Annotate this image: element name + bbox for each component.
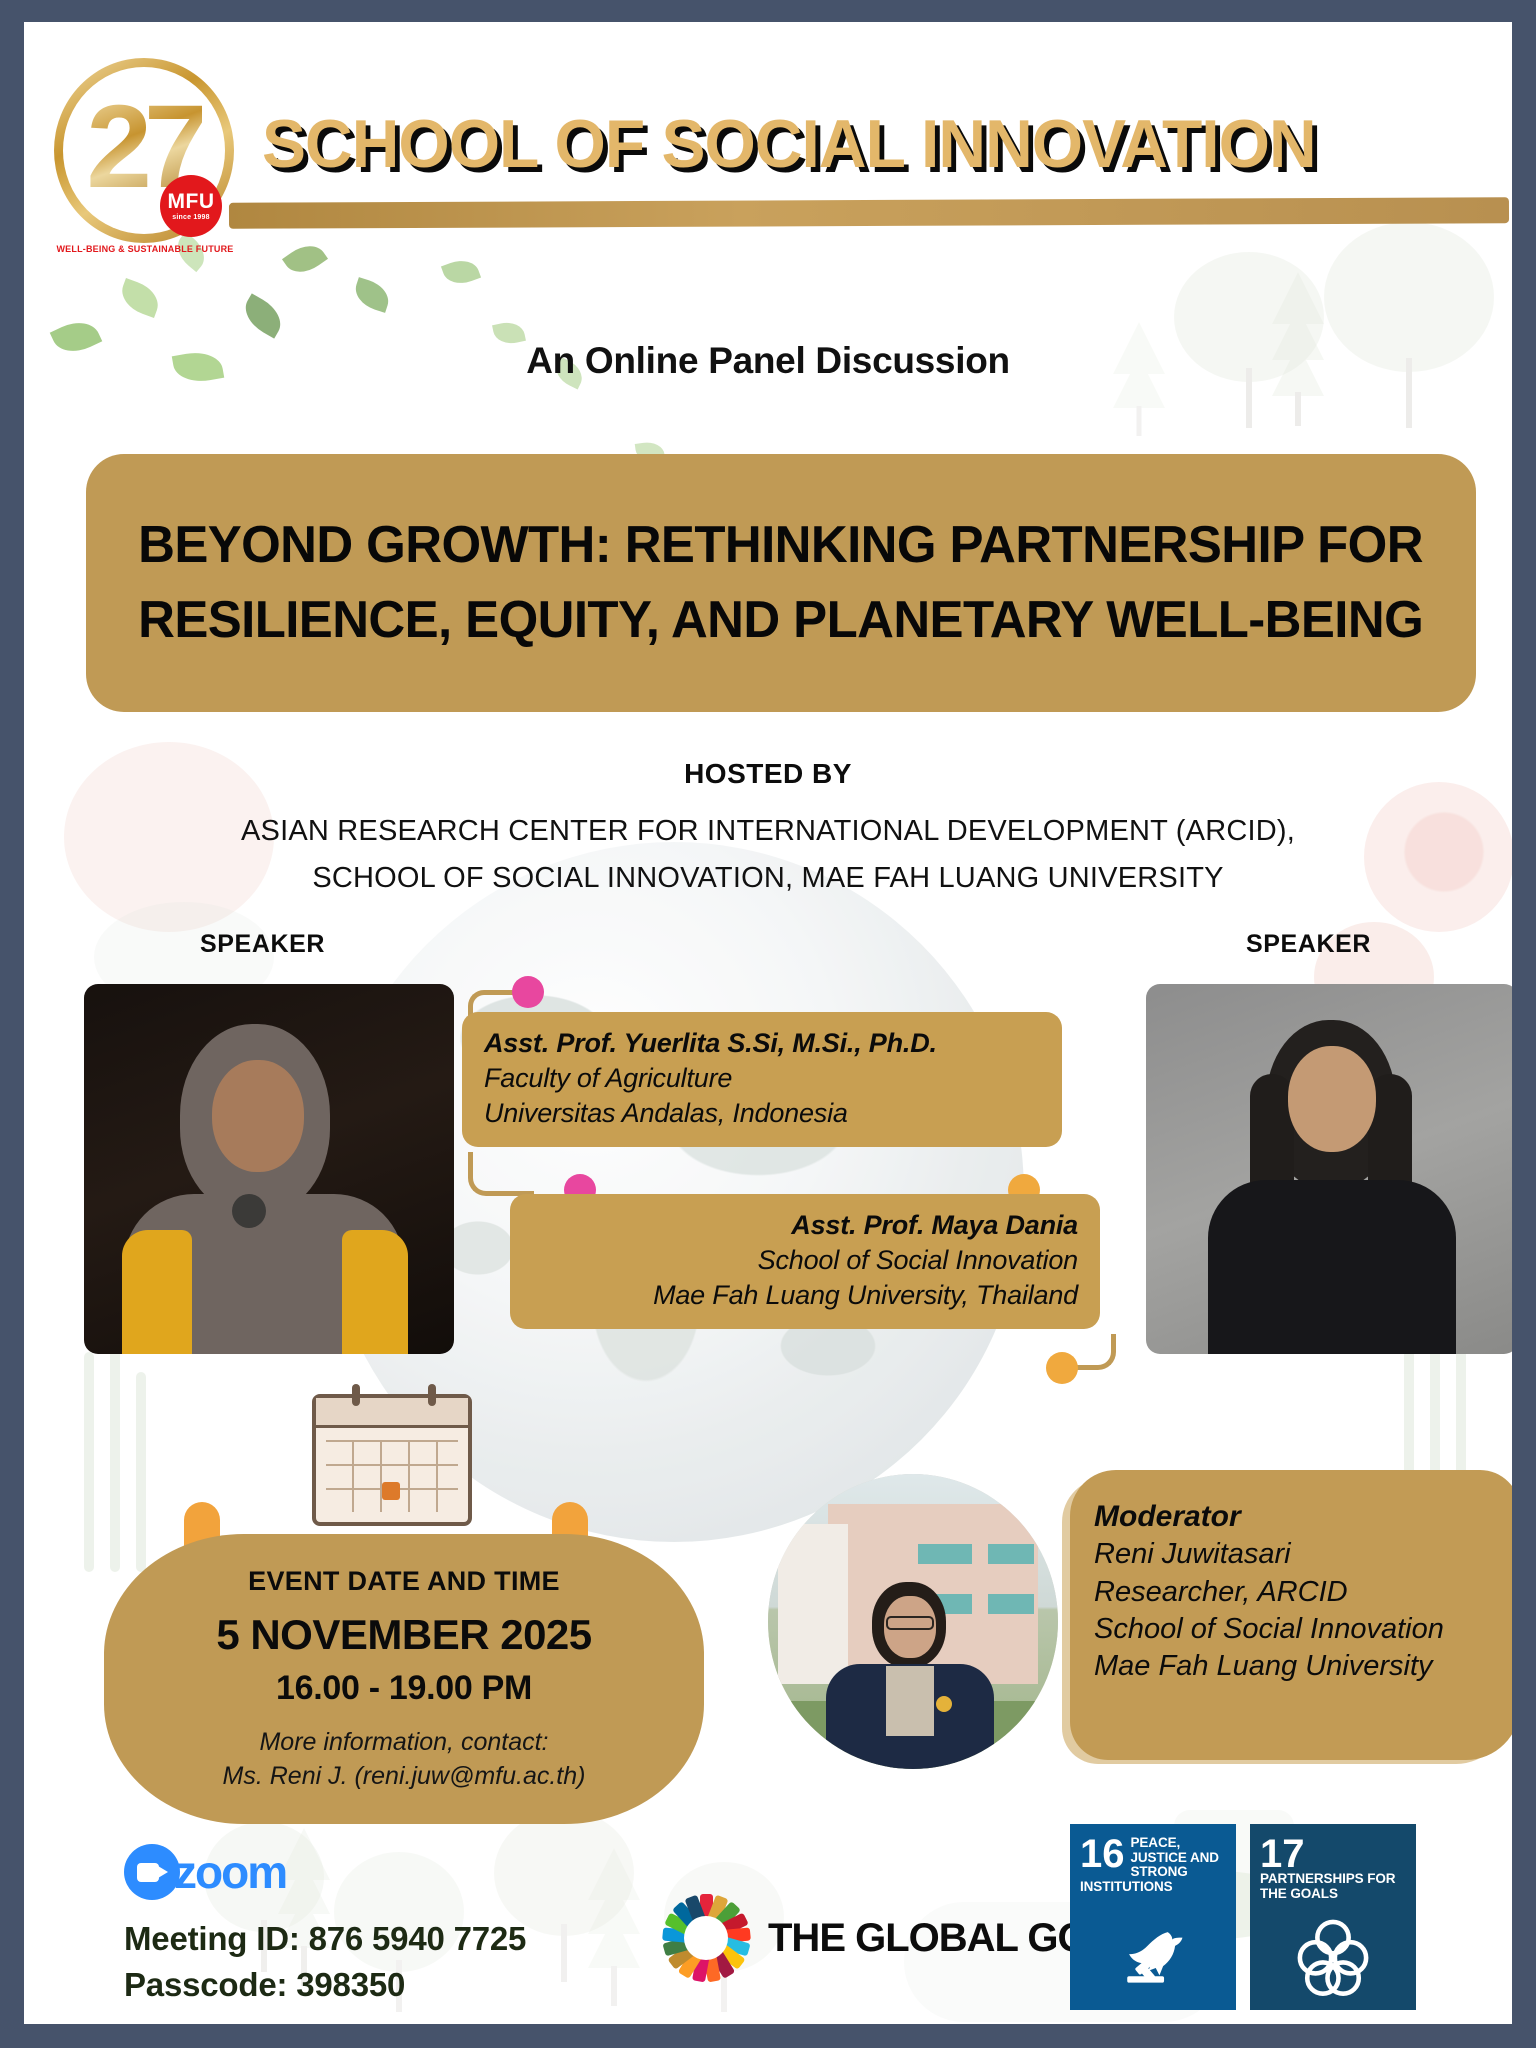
seaweed-icon [136,1372,146,1572]
moderator-role: Researcher, ARCID [1094,1574,1504,1611]
portrait-brooch [232,1194,266,1228]
window-graphic [988,1544,1034,1564]
contact-line-2: Ms. Reni J. (reni.juw@mfu.ac.th) [223,1760,586,1794]
calendar-icon [312,1394,472,1526]
host-organisation-line-2: SCHOOL OF SOCIAL INNOVATION, MAE FAH LUA… [24,862,1512,895]
zoom-logo: zoom [124,1844,286,1900]
moderator-name: Reni Juwitasari [1094,1536,1504,1573]
portrait-face [212,1060,304,1172]
speaker-2-role: School of Social Innovation [532,1243,1078,1278]
speaker-photo-yuerlita [84,984,454,1354]
speaker-1-name: Asst. Prof. Yuerlita S.Si, M.Si., Ph.D. [484,1026,1040,1061]
pine-tree-icon [584,1848,644,2018]
sdg-17-tile: 17 PARTNERSHIPS FOR THE GOALS [1250,1824,1416,2010]
moderator-photo [768,1474,1058,1769]
seaweed-icon [110,1322,120,1572]
calendar-header [316,1398,468,1428]
sdg-color-wheel-icon [658,1890,754,1986]
hosted-by-label: HOSTED BY [24,758,1512,790]
speaker-2-affiliation: Mae Fah Luang University, Thailand [532,1278,1078,1313]
event-time: 16.00 - 19.00 PM [276,1669,532,1708]
window-graphic [988,1594,1034,1614]
moderator-shirt [886,1666,934,1736]
host-organisation-line-1: ASIAN RESEARCH CENTER FOR INTERNATIONAL … [24,815,1512,848]
contact-line-1: More information, contact: [259,1726,548,1760]
main-title-line-1: BEYOND GROWTH: RETHINKING PARTNERSHIP FO… [139,508,1424,583]
header-gold-bar [229,197,1509,229]
moderator-university: Mae Fah Luang University [1094,1648,1504,1685]
speaker-card-1: Asst. Prof. Yuerlita S.Si, M.Si., Ph.D. … [462,1012,1062,1147]
event-subtitle: An Online Panel Discussion [24,340,1512,382]
speaker-label-left: SPEAKER [200,930,325,959]
event-date: 5 NOVEMBER 2025 [216,1611,591,1659]
speaker-1-role: Faculty of Agriculture [484,1061,1040,1096]
portrait-face [1288,1046,1376,1152]
zoom-camera-icon [124,1844,180,1900]
leaf-icon [238,293,288,338]
moderator-info-box: Moderator Reni Juwitasari Researcher, AR… [1070,1470,1512,1760]
portrait-sleeve-left [122,1230,192,1354]
connector-dot-pink-1 [512,976,544,1008]
seaweed-icon [84,1352,94,1572]
speaker-label-right: SPEAKER [1246,930,1371,959]
leaf-icon [351,277,393,313]
poster-header: 27 MFU since 1998 WELL-BEING & SUSTAINAB… [24,22,1512,272]
poster-frame: 27 MFU since 1998 WELL-BEING & SUSTAINAB… [0,0,1536,2048]
portrait-sleeve-right [342,1230,408,1354]
main-title-box: BEYOND GROWTH: RETHINKING PARTNERSHIP FO… [86,454,1476,712]
zoom-wordmark: zoom [174,1845,286,1899]
meeting-id: Meeting ID: 876 5940 7725 [124,1920,526,1958]
speaker-photo-maya [1146,984,1512,1354]
calendar-grid [326,1440,458,1512]
coral-blob [1364,782,1512,932]
connector-dot-orange-2 [1046,1352,1078,1384]
calendar-marked-day [382,1482,400,1500]
page-title: SCHOOL OF SOCIAL INNOVATION [262,110,1455,178]
event-date-heading: EVENT DATE AND TIME [248,1566,560,1597]
speaker-card-2: Asst. Prof. Maya Dania School of Social … [510,1194,1100,1329]
mfu-badge-main: MFU [168,191,215,212]
dove-gavel-icon [1070,1910,1236,2002]
mfu-27-logo: 27 MFU since 1998 [54,58,234,243]
interlocking-rings-icon [1250,1910,1416,2002]
calendar-ring-left [352,1384,360,1406]
sdg-16-number: 16 [1080,1836,1125,1872]
logo-tagline: WELL-BEING & SUSTAINABLE FUTURE [46,244,244,254]
moderator-title: Moderator [1094,1498,1504,1536]
main-title-line-2: RESILIENCE, EQUITY, AND PLANETARY WELL-B… [138,583,1423,658]
sdg-17-number: 17 [1260,1836,1305,1872]
leaf-icon [116,278,163,318]
window-graphic [918,1544,972,1564]
speaker-2-name: Asst. Prof. Maya Dania [532,1208,1078,1243]
mfu-badge: MFU since 1998 [160,175,222,237]
passcode: Passcode: 398350 [124,1966,405,2004]
connector-line-2 [468,1152,534,1196]
mfu-badge-sub: since 1998 [172,214,209,221]
calendar-ring-right [428,1384,436,1406]
portrait-body [1208,1180,1456,1354]
sdg-lapel-pin-icon [936,1696,952,1712]
sdg-wheel-segment [700,1894,713,1938]
poster-sheet: 27 MFU since 1998 WELL-BEING & SUSTAINAB… [24,22,1512,2024]
speaker-1-affiliation: Universitas Andalas, Indonesia [484,1096,1040,1131]
event-date-box: EVENT DATE AND TIME 5 NOVEMBER 2025 16.0… [104,1534,704,1824]
sdg-16-tile: 16 PEACE, JUSTICE AND STRONG INSTITUTION… [1070,1824,1236,2010]
glasses-icon [886,1616,934,1630]
building-graphic-secondary [778,1524,848,1684]
moderator-school: School of Social Innovation [1094,1611,1504,1648]
